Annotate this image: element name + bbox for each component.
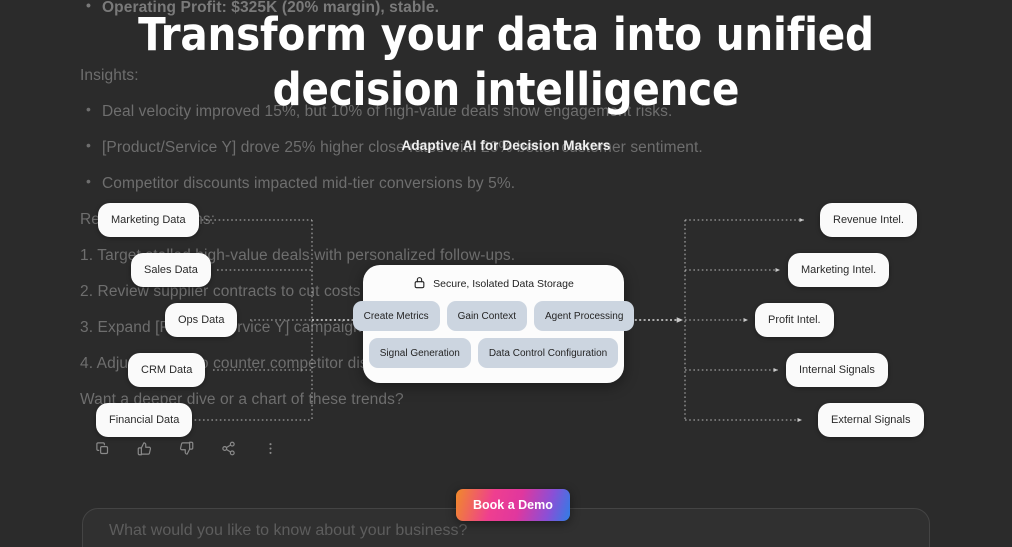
- book-a-demo-button[interactable]: Book a Demo: [456, 489, 570, 521]
- core-card-header: Secure, Isolated Data Storage: [374, 274, 613, 294]
- node-label: CRM Data: [141, 364, 192, 376]
- secure-data-storage-card: Secure, Isolated Data Storage Create Met…: [363, 265, 624, 383]
- core-pill-row-1: Create Metrics Gain Context Agent Proces…: [374, 301, 613, 331]
- node-profit-intel[interactable]: Profit Intel.: [755, 303, 834, 337]
- node-financial-data[interactable]: Financial Data: [96, 403, 192, 437]
- node-marketing-intel[interactable]: Marketing Intel.: [788, 253, 889, 287]
- node-label: External Signals: [831, 414, 911, 426]
- node-label: Profit Intel.: [768, 314, 821, 326]
- node-crm-data[interactable]: CRM Data: [128, 353, 205, 387]
- node-external-signals[interactable]: External Signals: [818, 403, 924, 437]
- pill-data-control-configuration[interactable]: Data Control Configuration: [478, 338, 618, 368]
- pill-agent-processing[interactable]: Agent Processing: [534, 301, 634, 331]
- node-label: Sales Data: [144, 264, 198, 276]
- node-ops-data[interactable]: Ops Data: [165, 303, 237, 337]
- node-internal-signals[interactable]: Internal Signals: [786, 353, 888, 387]
- core-pill-row-2: Signal Generation Data Control Configura…: [374, 338, 613, 368]
- lock-icon: [413, 276, 426, 292]
- node-sales-data[interactable]: Sales Data: [131, 253, 211, 287]
- node-label: Marketing Data: [111, 214, 186, 226]
- node-label: Revenue Intel.: [833, 214, 904, 226]
- node-revenue-intel[interactable]: Revenue Intel.: [820, 203, 917, 237]
- node-label: Ops Data: [178, 314, 224, 326]
- node-label: Marketing Intel.: [801, 264, 876, 276]
- pill-create-metrics[interactable]: Create Metrics: [353, 301, 440, 331]
- core-card-title: Secure, Isolated Data Storage: [433, 278, 574, 290]
- pill-gain-context[interactable]: Gain Context: [447, 301, 527, 331]
- node-label: Internal Signals: [799, 364, 875, 376]
- node-marketing-data[interactable]: Marketing Data: [98, 203, 199, 237]
- app-root: Operating Profit: $325K (20% margin), st…: [0, 0, 1012, 547]
- architecture-diagram: Marketing Data Sales Data Ops Data CRM D…: [0, 0, 1012, 547]
- node-label: Financial Data: [109, 414, 179, 426]
- pill-signal-generation[interactable]: Signal Generation: [369, 338, 471, 368]
